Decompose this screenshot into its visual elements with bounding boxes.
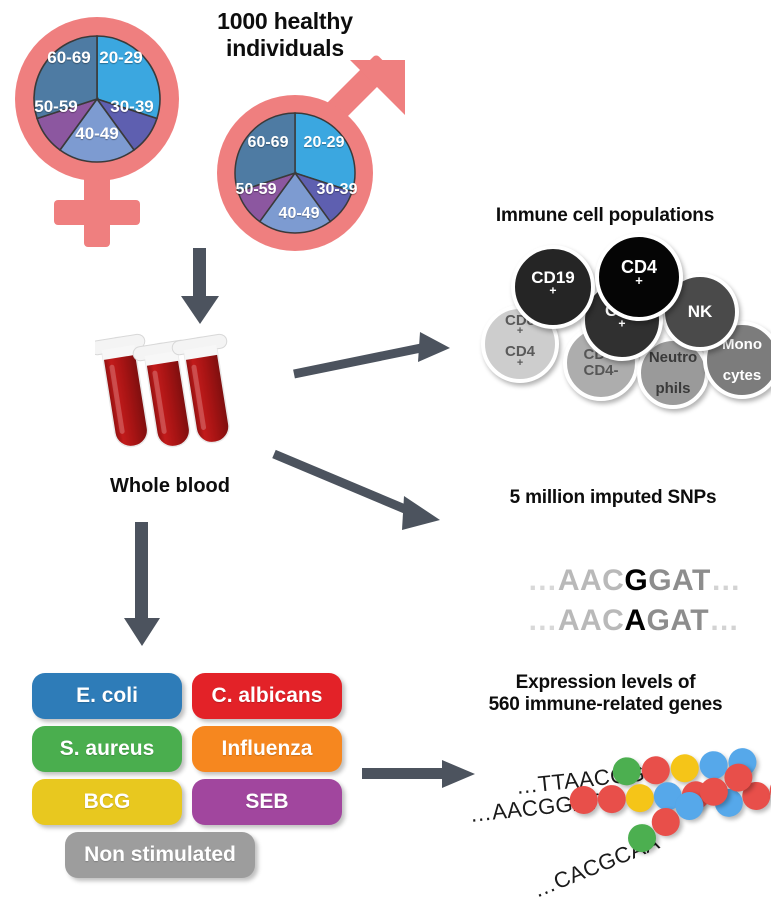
figure-canvas: 1000 healthy individuals 20-29 30-3 (0, 0, 771, 922)
immune-cell-label-line1: NK (688, 303, 713, 321)
expression-bead (624, 783, 655, 814)
stimulus-bcg[interactable]: BCG (32, 779, 182, 825)
stimulus-influenza[interactable]: Influenza (192, 726, 342, 772)
arrow-blood-to-stimuli (120, 522, 164, 648)
immune-cell-cd19pos: CD19+ (511, 245, 595, 329)
pie-label-male-20-29: 20-29 (304, 134, 345, 152)
stimulus-label: SEB (245, 790, 288, 814)
snp-sequence-row-bottom: …AACAGAT… (492, 570, 740, 672)
stimulus-s-aureus[interactable]: S. aureus (32, 726, 182, 772)
expression-title: Expression levels of 560 immune-related … (440, 672, 771, 717)
immune-populations-title: Immune cell populations (440, 205, 770, 227)
arrow-blood-to-immune (294, 330, 454, 384)
pie-label-female-50-59: 50-59 (34, 97, 77, 117)
immune-cell-label-line2: phils (649, 381, 697, 397)
stimulus-label: E. coli (76, 684, 138, 708)
stimulus-label: S. aureus (60, 737, 155, 761)
immune-cell-label-line2: cytes (722, 368, 762, 384)
pie-label-female-60-69: 60-69 (47, 48, 90, 68)
stimulus-non-stimulated[interactable]: Non stimulated (65, 832, 255, 878)
immune-cell-label-line1: Neutro (649, 350, 697, 366)
whole-blood-label: Whole blood (60, 475, 280, 498)
pie-label-female-20-29: 20-29 (99, 48, 142, 68)
male-symbol (205, 60, 420, 260)
immune-cell-cluster: CD8- CD4- CD8+ CD4+ Neutro phils Mono cy… (455, 245, 771, 415)
pie-label-female-40-49: 40-49 (75, 124, 118, 144)
arrow-stimuli-to-expression (362, 758, 477, 792)
immune-cell-label-line2: CD4- (583, 363, 618, 379)
stimulus-label: Non stimulated (84, 843, 236, 867)
snp-left-bases: AAC (558, 604, 625, 637)
pie-label-male-50-59: 50-59 (236, 181, 277, 199)
arrow-blood-to-snp (272, 450, 442, 540)
snp-suffix-dots: … (709, 604, 740, 637)
snp-right-bases: GAT (647, 604, 710, 637)
stimulus-label: BCG (84, 790, 131, 814)
snp-variant-base: A (624, 604, 646, 637)
pie-label-male-40-49: 40-49 (279, 205, 320, 223)
blood-tubes (95, 333, 245, 463)
snp-prefix-dots: … (527, 604, 558, 637)
arrow-cohort-to-blood (178, 248, 222, 326)
pie-label-male-30-39: 30-39 (317, 181, 358, 199)
pie-label-female-30-39: 30-39 (110, 97, 153, 117)
snp-title: 5 million imputed SNPs (455, 487, 771, 509)
stimulus-seb[interactable]: SEB (192, 779, 342, 825)
expression-title-line2: 560 immune-related genes (440, 694, 771, 716)
expression-title-line1: Expression levels of (440, 672, 771, 694)
stimulus-label: Influenza (221, 737, 312, 761)
stimuli-panel: E. coli C. albicans S. aureus Influenza … (32, 673, 342, 888)
immune-cell-cd4pos: CD4+ (595, 233, 683, 321)
stimulus-c-albicans[interactable]: C. albicans (192, 673, 342, 719)
stimulus-e-coli[interactable]: E. coli (32, 673, 182, 719)
stimulus-label: C. albicans (212, 684, 323, 708)
pie-label-male-60-69: 60-69 (248, 134, 289, 152)
